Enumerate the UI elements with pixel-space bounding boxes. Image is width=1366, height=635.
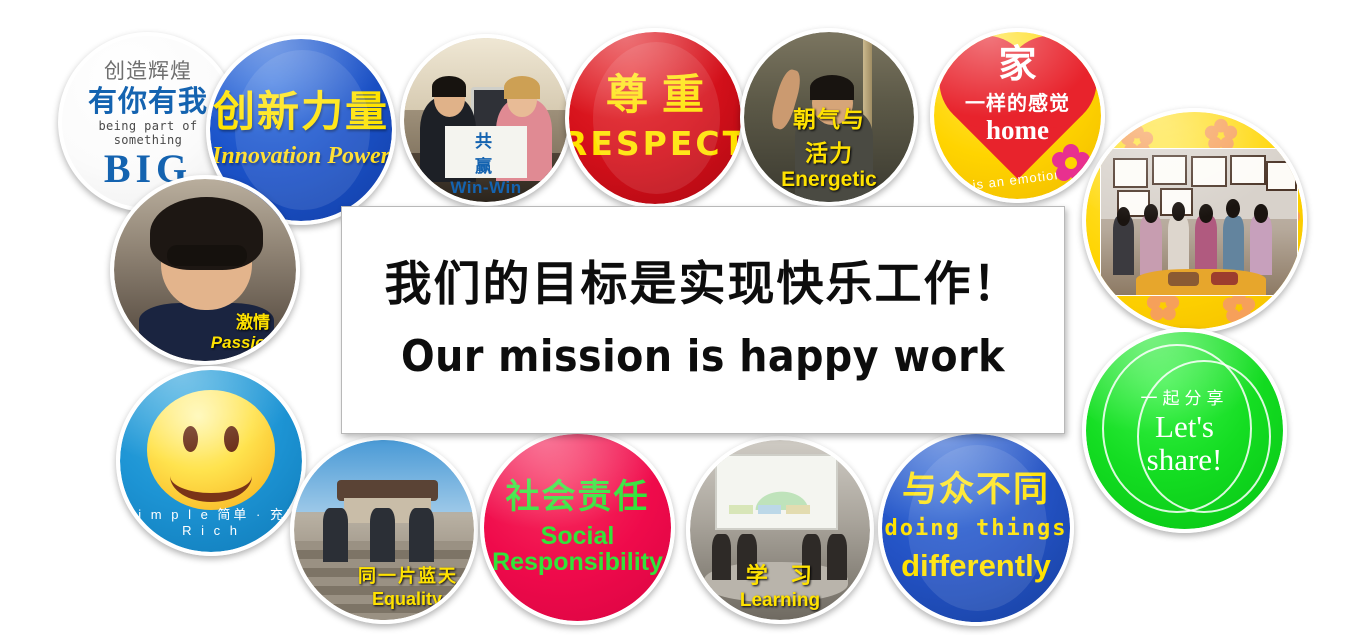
badge-face: 社会责任 Social Responsibility: [484, 434, 671, 621]
badge-face: 激情 Passion: [114, 179, 296, 361]
chart-bar: [758, 505, 782, 514]
badge-english-text: Learning: [740, 590, 820, 612]
badge-chinese-text: 创新力量: [213, 91, 389, 133]
badge-learning[interactable]: 学 习 Learning: [686, 436, 874, 624]
badge-chinese-text: 与众不同: [902, 472, 1050, 507]
badge-chinese-text: 共 赢: [461, 127, 511, 177]
badge-passion[interactable]: 激情 Passion: [110, 175, 300, 365]
badge-text-block: 一起分享 Let's share!: [1141, 384, 1229, 476]
badge-line-1: 家: [934, 46, 1101, 84]
badge-face: 共 赢 Win-Win: [404, 38, 568, 202]
badge-face: 一起分享 Let's share!: [1086, 332, 1283, 529]
wall-frame: [1230, 155, 1265, 185]
badge-chinese-text: 学 习: [746, 558, 820, 590]
badge-english-line-1: Social: [541, 523, 615, 549]
badge-line-2: 有你有我: [88, 87, 208, 117]
person-shape: [1195, 216, 1217, 274]
flower-icon: [1204, 118, 1238, 152]
wall-frame: [1191, 156, 1226, 186]
badge-energetic[interactable]: 朝气与活力 Energetic: [740, 28, 918, 206]
person-shape: [1250, 216, 1272, 274]
badge-social-responsibility[interactable]: 社会责任 Social Responsibility: [480, 430, 675, 625]
smiley-face-icon: [147, 390, 275, 510]
badge-english-text: Energetic: [781, 168, 877, 192]
person-hair: [810, 75, 854, 101]
wall-frame: [1152, 155, 1187, 185]
badge-english-text: Win-Win: [450, 178, 521, 198]
cake-shape: [1211, 272, 1238, 285]
badge-simple-and-rich[interactable]: S i m p l e 简单 · 充实 R i c h: [116, 366, 306, 556]
badge-english-text: Passion: [211, 333, 276, 353]
badge-english-line-2: Responsibility: [492, 549, 663, 575]
badge-face: 学 习 Learning: [690, 440, 870, 620]
badge-chinese-text: 尊重: [592, 74, 718, 116]
badge-doing-things-differently[interactable]: 与众不同 doing things differently: [878, 430, 1074, 626]
badge-chinese-text: 社会责任: [506, 480, 650, 514]
badge-chinese-text: 激情: [236, 308, 270, 333]
mission-chinese-text: 我们的目标是实现快乐工作！: [385, 258, 1022, 312]
person-shape: [1168, 216, 1190, 274]
table-shape: [1136, 269, 1265, 295]
chart-bar: [786, 505, 810, 514]
person-shape: [827, 534, 847, 581]
person-left-hair: [432, 76, 466, 97]
person-shape: [323, 508, 348, 562]
badge-english-line-1: Let's: [1141, 411, 1229, 444]
badge-english-text: RESPECT: [569, 124, 741, 163]
badge-home-is-an-emotion[interactable]: 家 一样的感觉 home is an emotion: [930, 28, 1105, 203]
mission-banner: 我们的目标是实现快乐工作！ Our mission is happy work: [341, 206, 1065, 434]
wall-frame: [1266, 161, 1297, 191]
badge-team-group-photo[interactable]: [1082, 108, 1307, 333]
badge-equality[interactable]: 同一片蓝天 Equality: [290, 436, 478, 624]
badge-line-1: 创造辉煌: [104, 55, 192, 85]
badge-face: 同一片蓝天 Equality: [294, 440, 474, 620]
person-head: [1199, 204, 1213, 223]
flower-icon: [1051, 143, 1091, 183]
cake-shape: [1168, 272, 1199, 287]
badge-line-2: 一样的感觉: [934, 87, 1101, 116]
badge-face: 尊重 RESPECT: [569, 32, 741, 204]
badge-chinese-text: 一起分享: [1141, 384, 1229, 409]
badge-respect[interactable]: 尊重 RESPECT: [565, 28, 745, 208]
badge-english-line-1: doing things: [885, 516, 1068, 541]
badge-face: 朝气与活力 Energetic: [744, 32, 914, 202]
smiley-eye-right: [224, 426, 239, 452]
name-plaque: 共 赢: [445, 126, 527, 178]
badge-face: [1086, 112, 1303, 329]
person-shape: [1223, 216, 1245, 274]
badge-english-line-2: share!: [1141, 444, 1229, 477]
person-right-hair: [504, 76, 540, 99]
group-photo: [1100, 148, 1298, 296]
badge-english-text: Equality: [372, 589, 442, 610]
person-shape: [1140, 216, 1162, 274]
mission-english-text: Our mission is happy work: [401, 331, 1005, 382]
projection-screen: [715, 454, 838, 530]
person-shape: [409, 508, 434, 562]
heart-text-block: 家 一样的感觉 home: [934, 46, 1101, 146]
smiley-eye-left: [183, 426, 198, 452]
sunglasses-icon: [167, 245, 247, 267]
wall-frame: [1113, 158, 1148, 188]
badge-chinese-text: 朝气与活力: [787, 100, 872, 168]
person-head: [1254, 204, 1268, 223]
badge-caption: S i m p l e 简单 · 充实 R i c h: [120, 504, 302, 538]
person-shape: [370, 508, 395, 562]
values-badge-collage: 创造辉煌 有你有我 being part of something BIG 创新…: [0, 0, 1366, 635]
badge-chinese-text: 同一片蓝天: [358, 562, 458, 588]
badge-face: 家 一样的感觉 home is an emotion: [934, 32, 1101, 199]
person-head: [1172, 202, 1186, 221]
badge-english-line-2: differently: [901, 548, 1051, 584]
badge-english-text: Innovation Power: [212, 143, 390, 170]
badge-lets-share[interactable]: 一起分享 Let's share!: [1082, 328, 1287, 533]
person-head: [1226, 199, 1240, 218]
badge-line-3: home: [934, 116, 1101, 146]
badge-face: S i m p l e 简单 · 充实 R i c h: [120, 370, 302, 552]
chart-bar: [729, 505, 753, 514]
badge-win-win[interactable]: 共 赢 Win-Win: [400, 34, 572, 206]
smiley-mouth: [170, 450, 252, 502]
person-shape: [712, 534, 732, 581]
badge-face: 与众不同 doing things differently: [882, 434, 1070, 622]
